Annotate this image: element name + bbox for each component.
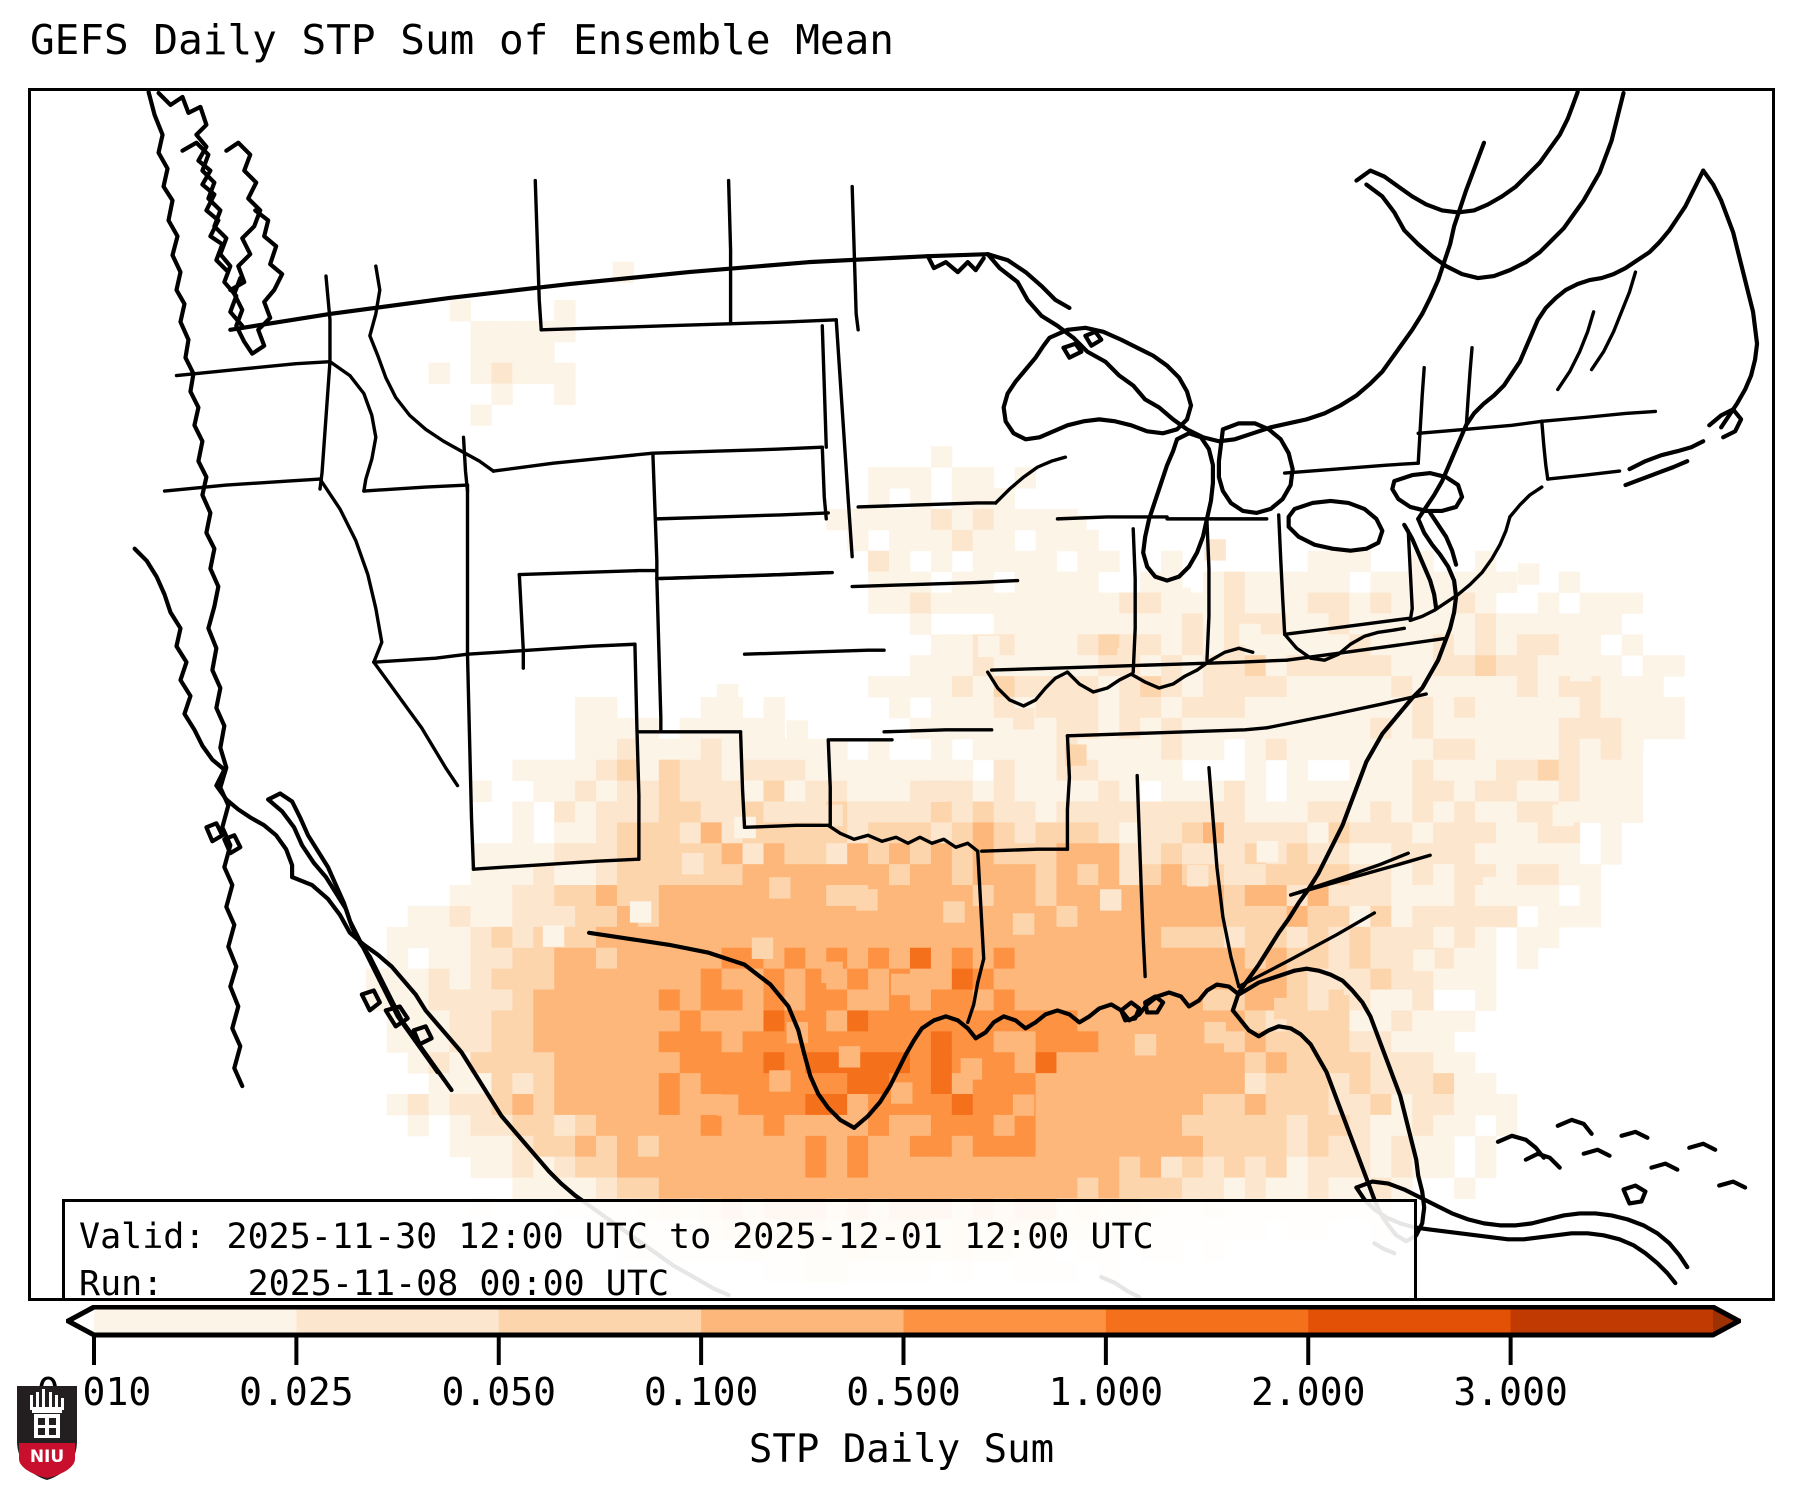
colorbar-tick-label: 0.050 [442, 1370, 556, 1414]
great-lakes-layer [1004, 328, 1462, 581]
colorbar-tick-label: 0.100 [644, 1370, 758, 1414]
colorbar-band [1511, 1306, 1714, 1336]
colorbar-band [1106, 1306, 1309, 1336]
colorbar-tick-label: 2.000 [1251, 1370, 1365, 1414]
niu-shield-logo: NIU [14, 1383, 80, 1483]
coastline-layer [149, 92, 283, 1086]
colorbar-axis-label: STP Daily Sum [0, 1427, 1803, 1473]
valid-time-text: Valid: 2025-11-30 12:00 UTC to 2025-12-0… [79, 1214, 1414, 1261]
colorbar-band [701, 1306, 904, 1336]
colorbar-tick-label: 0.500 [846, 1370, 960, 1414]
page-title: GEFS Daily STP Sum of Ensemble Mean [30, 16, 894, 64]
niu-logo-graphic: NIU [14, 1383, 80, 1483]
colorbar-band [94, 1306, 297, 1336]
map-plot-area[interactable]: Valid: 2025-11-30 12:00 UTC to 2025-12-0… [31, 91, 1772, 1298]
run-time-text: Run: 2025-11-08 00:00 UTC [79, 1261, 1414, 1298]
colorbar-tick-label: 0.025 [239, 1370, 353, 1414]
annotation-textbox: Valid: 2025-11-30 12:00 UTC to 2025-12-0… [62, 1199, 1417, 1298]
colorbar-tick-labels: 0.0100.0250.0500.1000.5001.0002.0003.000 [0, 1370, 1803, 1416]
colorbar-band [296, 1306, 499, 1336]
niu-banner-text: NIU [30, 1447, 64, 1467]
colorbar-band [499, 1306, 702, 1336]
colorbar-swatches[interactable] [66, 1305, 1741, 1367]
colorbar[interactable] [66, 1305, 1741, 1367]
map-axes[interactable]: Valid: 2025-11-30 12:00 UTC to 2025-12-0… [28, 88, 1775, 1301]
map-geography-overlay [31, 91, 1772, 1298]
colorbar-band [1308, 1306, 1511, 1336]
colorbar-tick-label: 1.000 [1049, 1370, 1163, 1414]
colorbar-band [904, 1306, 1107, 1336]
us-coastline-layer [135, 171, 1757, 1254]
colorbar-tick-label: 3.000 [1453, 1370, 1567, 1414]
